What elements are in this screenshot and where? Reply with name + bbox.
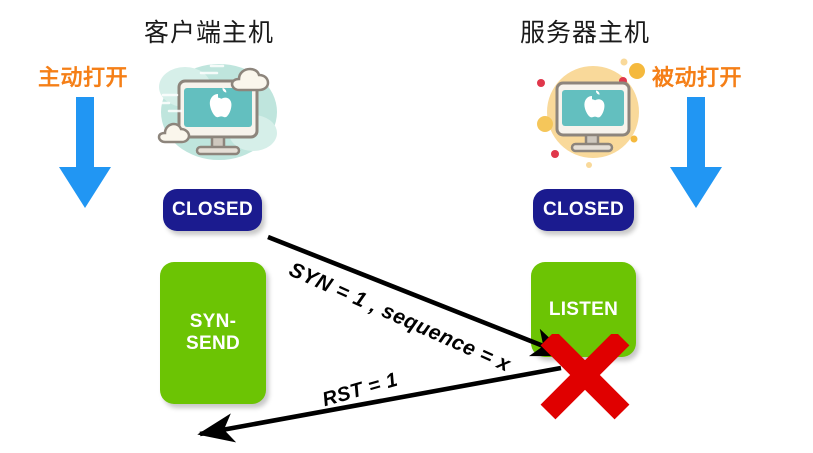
tcp-handshake-diagram: 客户端主机 服务器主机 主动打开 被动打开 xyxy=(0,0,813,453)
message-arrow-layer xyxy=(0,0,813,453)
reset-x-mark xyxy=(538,334,632,420)
